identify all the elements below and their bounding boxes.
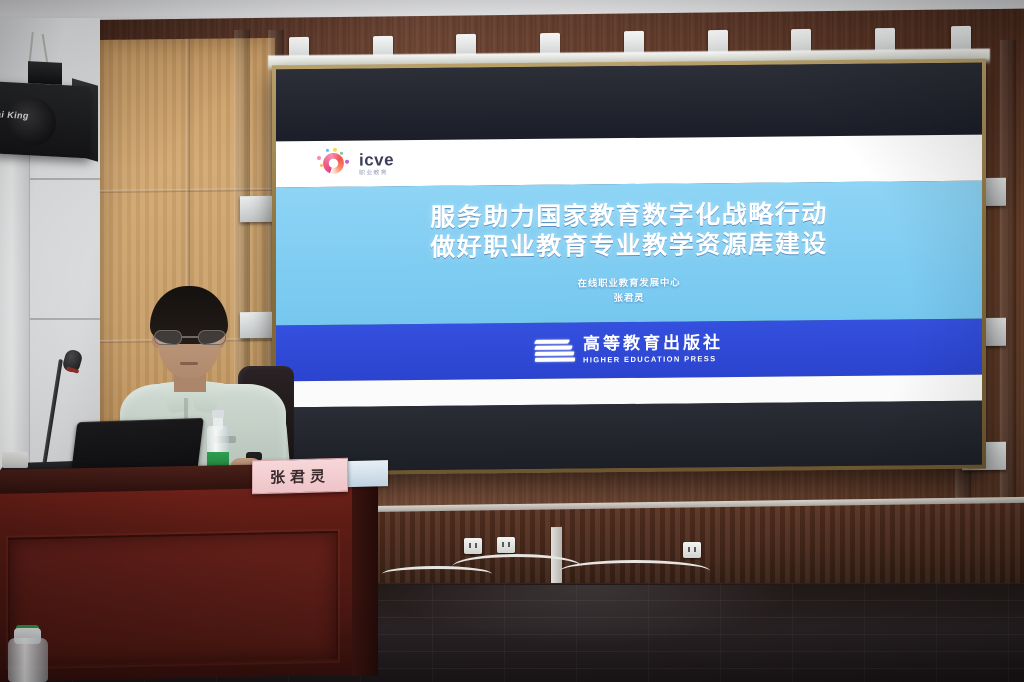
bottle-cap	[212, 410, 224, 418]
power-cable	[382, 566, 492, 582]
icve-swirl-icon	[316, 149, 350, 179]
icve-logo-name: icve	[359, 151, 394, 168]
speaker-brand-label: ai King	[0, 109, 29, 121]
slide-title-line-1: 服务助力国家教育数字化战略行动	[430, 199, 828, 233]
letterbox-top	[276, 63, 982, 142]
slide-subtitle-line-2: 张君灵	[614, 292, 645, 305]
publisher-logo: 高等教育出版社 HIGHER EDUCATION PRESS	[535, 335, 723, 364]
desk-inset-panel	[8, 531, 338, 668]
desk-side-panel	[352, 486, 378, 677]
speaker-cone-icon	[8, 96, 56, 147]
slide-title-line-2: 做好职业教育专业教学资源库建设	[430, 229, 828, 263]
floor-light-reflection	[380, 585, 800, 645]
display-bezel: icve 职业教育 服务助力国家教育数字化战略行动 做好职业教育专业教学资源库建…	[272, 59, 986, 476]
icve-logo-subtext: 职业教育	[359, 170, 394, 176]
wall-outlet[interactable]	[683, 542, 701, 558]
presentation-display[interactable]: icve 职业教育 服务助力国家教育数字化战略行动 做好职业教育专业教学资源库建…	[272, 62, 986, 472]
power-cable	[560, 560, 710, 582]
publisher-name-en: HIGHER EDUCATION PRESS	[583, 355, 723, 364]
wall-outlet[interactable]	[464, 538, 482, 554]
foreground-water-bottle[interactable]	[8, 628, 48, 682]
slide-subtitle-line-1: 在线职业教育发展中心	[577, 277, 680, 291]
eyeglasses-icon	[154, 330, 226, 345]
microphone-control-box[interactable]	[2, 452, 28, 468]
name-card-text: 张君灵	[270, 465, 330, 488]
slide-logo-bar: icve 职业教育	[276, 135, 982, 188]
conference-room-scene: ai King icve	[0, 0, 1024, 682]
speaker-mount	[28, 61, 62, 85]
slide-publisher-bar: 高等教育出版社 HIGHER EDUCATION PRESS	[276, 319, 982, 382]
desk-front-panel	[0, 486, 374, 682]
name-card: 张君灵	[252, 458, 348, 495]
publisher-name-cn: 高等教育出版社	[583, 335, 723, 353]
wall-outlet[interactable]	[497, 537, 515, 553]
wall-pillar	[0, 150, 30, 480]
slide-body: 服务助力国家教育数字化战略行动 做好职业教育专业教学资源库建设 在线职业教育发展…	[276, 181, 982, 326]
display-panel: icve 职业教育 服务助力国家教育数字化战略行动 做好职业教育专业教学资源库建…	[276, 63, 982, 472]
icve-wordmark: icve 职业教育	[359, 151, 394, 176]
wall-accent-block	[240, 196, 274, 222]
open-book-icon	[535, 339, 575, 363]
mouth	[180, 362, 198, 365]
